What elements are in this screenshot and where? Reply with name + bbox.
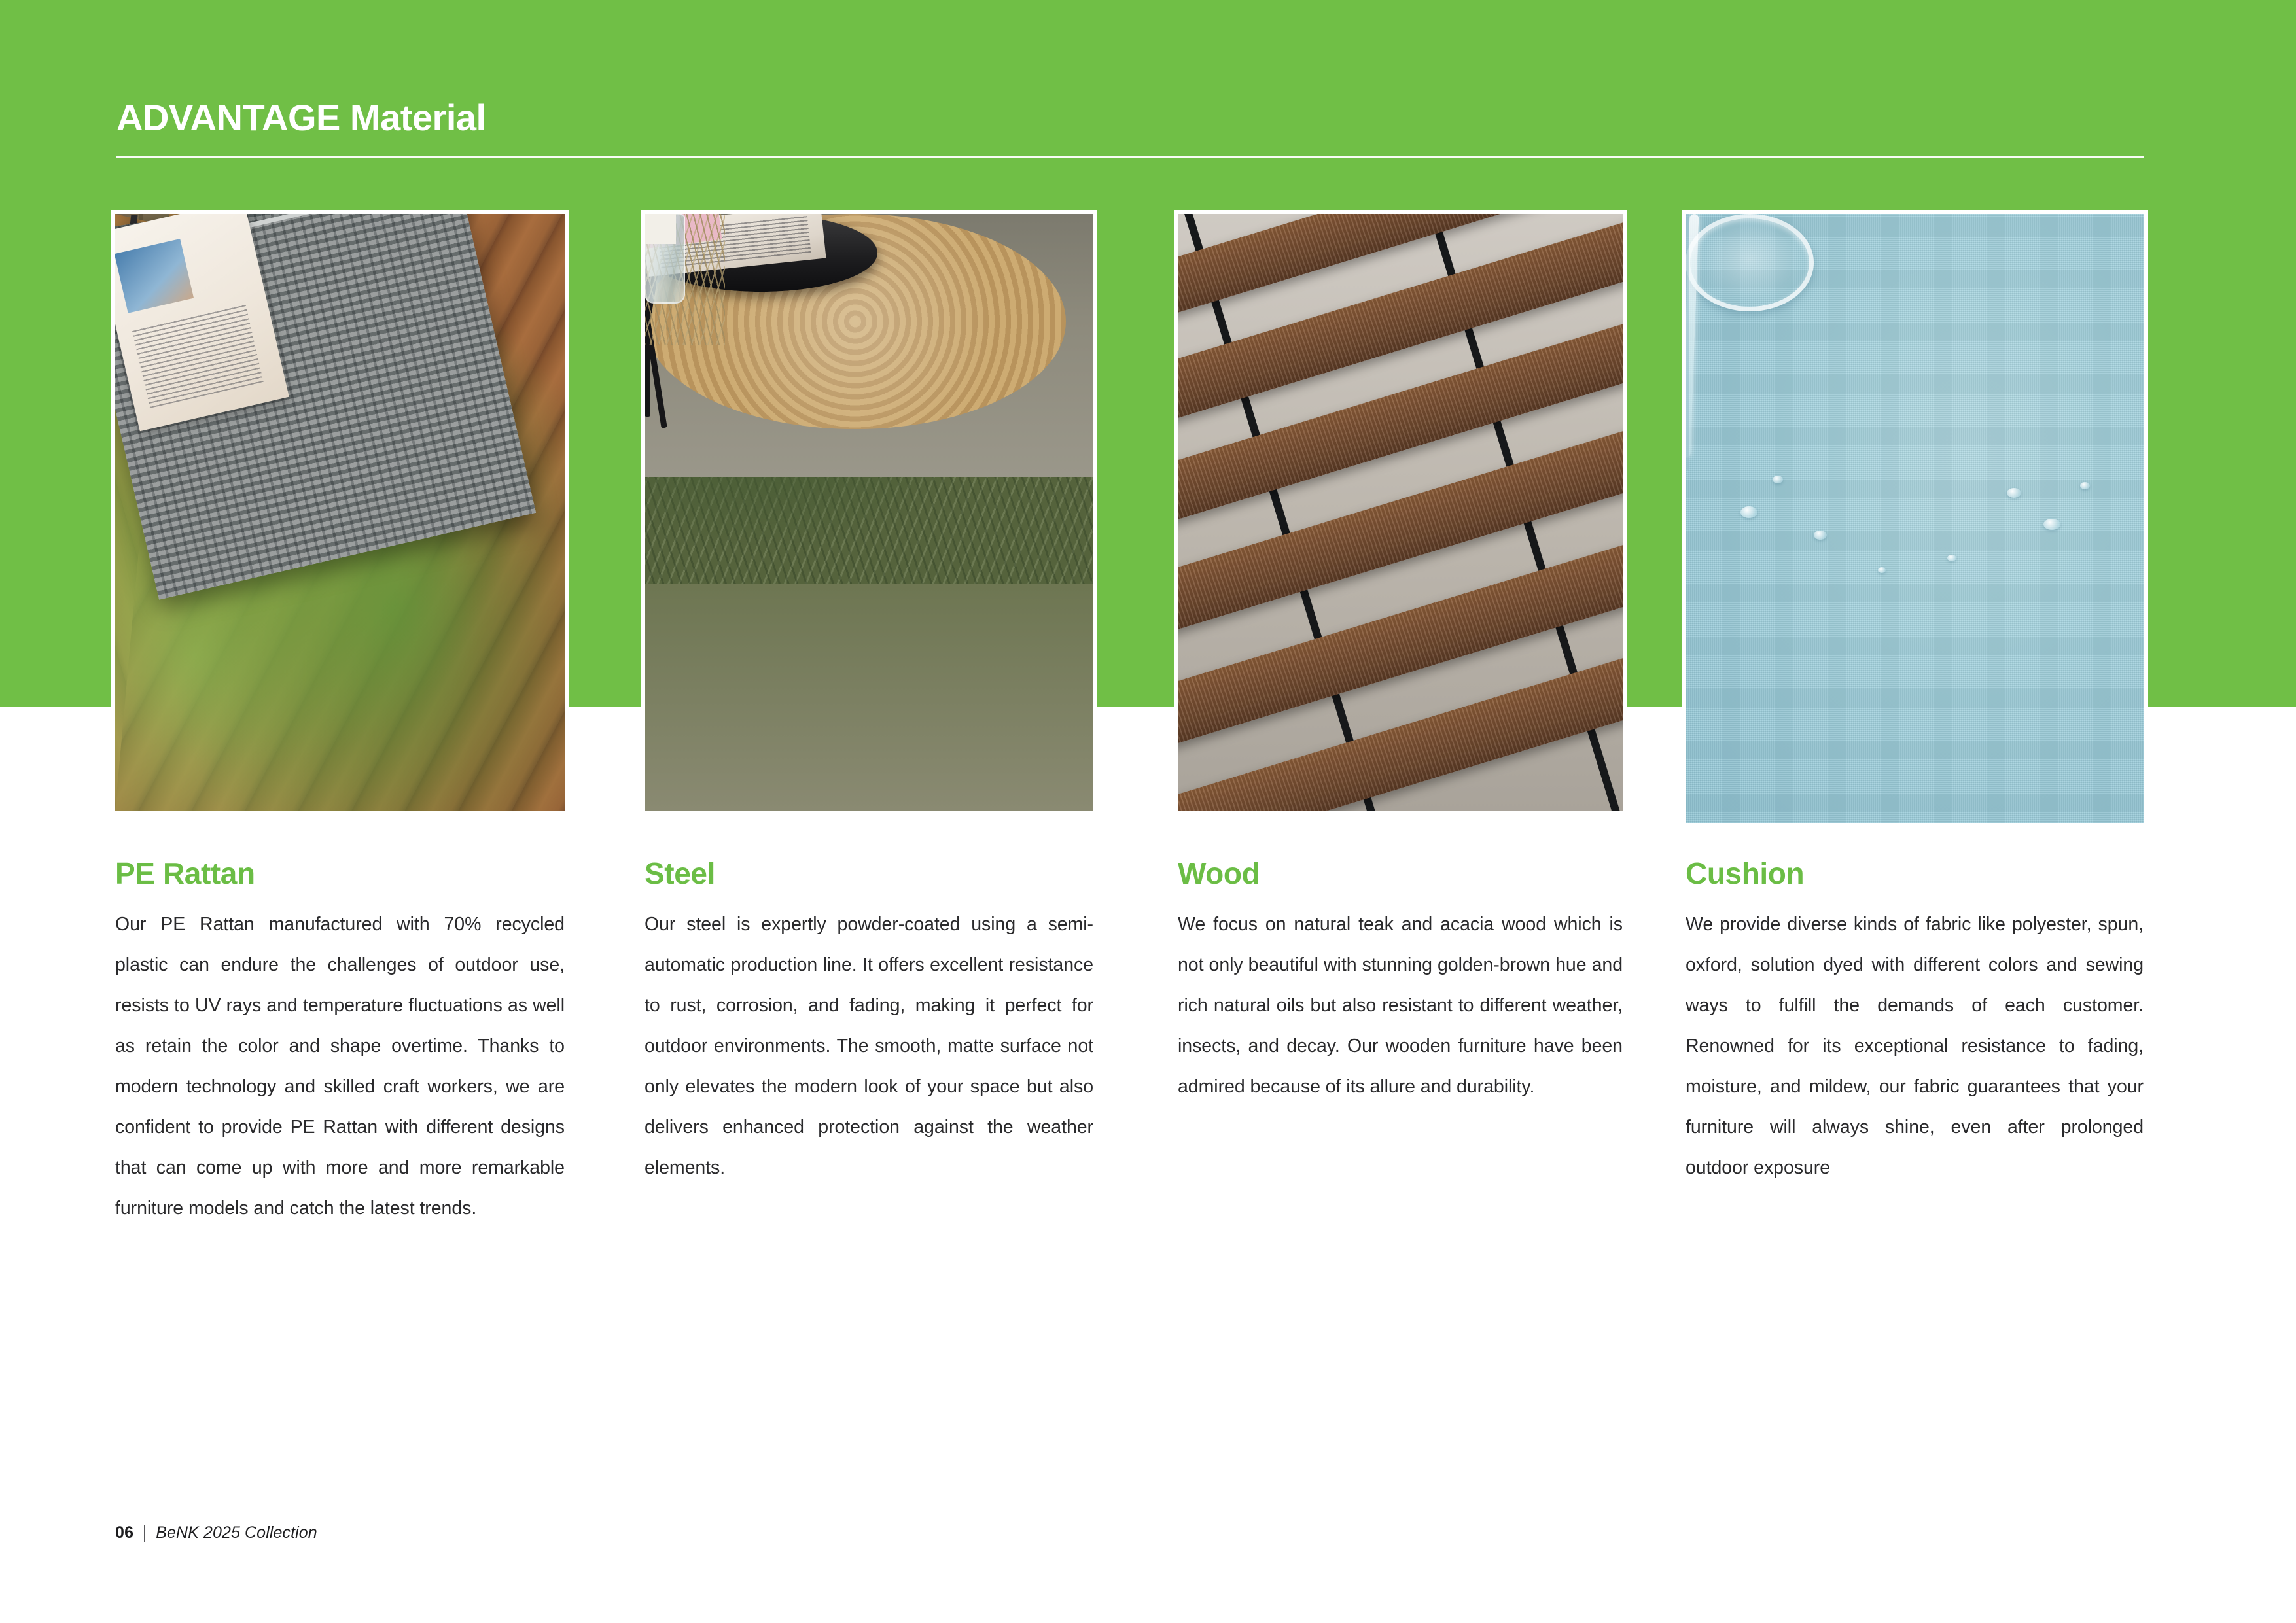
pe-rattan-table-photo (111, 210, 569, 815)
title-underline-rule (116, 156, 2144, 158)
page-footer: 06 BeNK 2025 Collection (115, 1524, 317, 1543)
column-title-pe-rattan: PE Rattan (115, 858, 565, 888)
wooden-slat-bench-photo (1174, 210, 1627, 815)
column-title-steel: Steel (645, 858, 1093, 888)
column-body-cushion: We provide diverse kinds of fabric like … (1686, 904, 2144, 1188)
brochure-page: ADVANTAGE Material (0, 0, 2296, 1623)
footer-page-number: 06 (115, 1524, 133, 1543)
column-title-wood: Wood (1178, 858, 1623, 888)
footer-divider (144, 1525, 145, 1542)
material-column-steel: Steel Our steel is expertly powder-coate… (645, 858, 1093, 1188)
water-repellent-fabric-photo (1682, 210, 2148, 827)
column-title-cushion: Cushion (1686, 858, 2144, 888)
material-column-cushion: Cushion We provide diverse kinds of fabr… (1686, 858, 2144, 1188)
page-title: ADVANTAGE Material (116, 99, 486, 136)
column-body-pe-rattan: Our PE Rattan manufactured with 70% recy… (115, 904, 565, 1229)
column-body-wood: We focus on natural teak and acacia wood… (1178, 904, 1623, 1107)
column-body-steel: Our steel is expertly powder-coated usin… (645, 904, 1093, 1188)
material-column-wood: Wood We focus on natural teak and acacia… (1178, 858, 1623, 1107)
footer-collection-label: BeNK 2025 Collection (156, 1524, 317, 1543)
page-title-strong: ADVANTAGE (116, 97, 340, 138)
page-title-light: Material (340, 97, 486, 138)
steel-side-table-photo (641, 210, 1097, 815)
material-column-pe-rattan: PE Rattan Our PE Rattan manufactured wit… (115, 858, 565, 1229)
